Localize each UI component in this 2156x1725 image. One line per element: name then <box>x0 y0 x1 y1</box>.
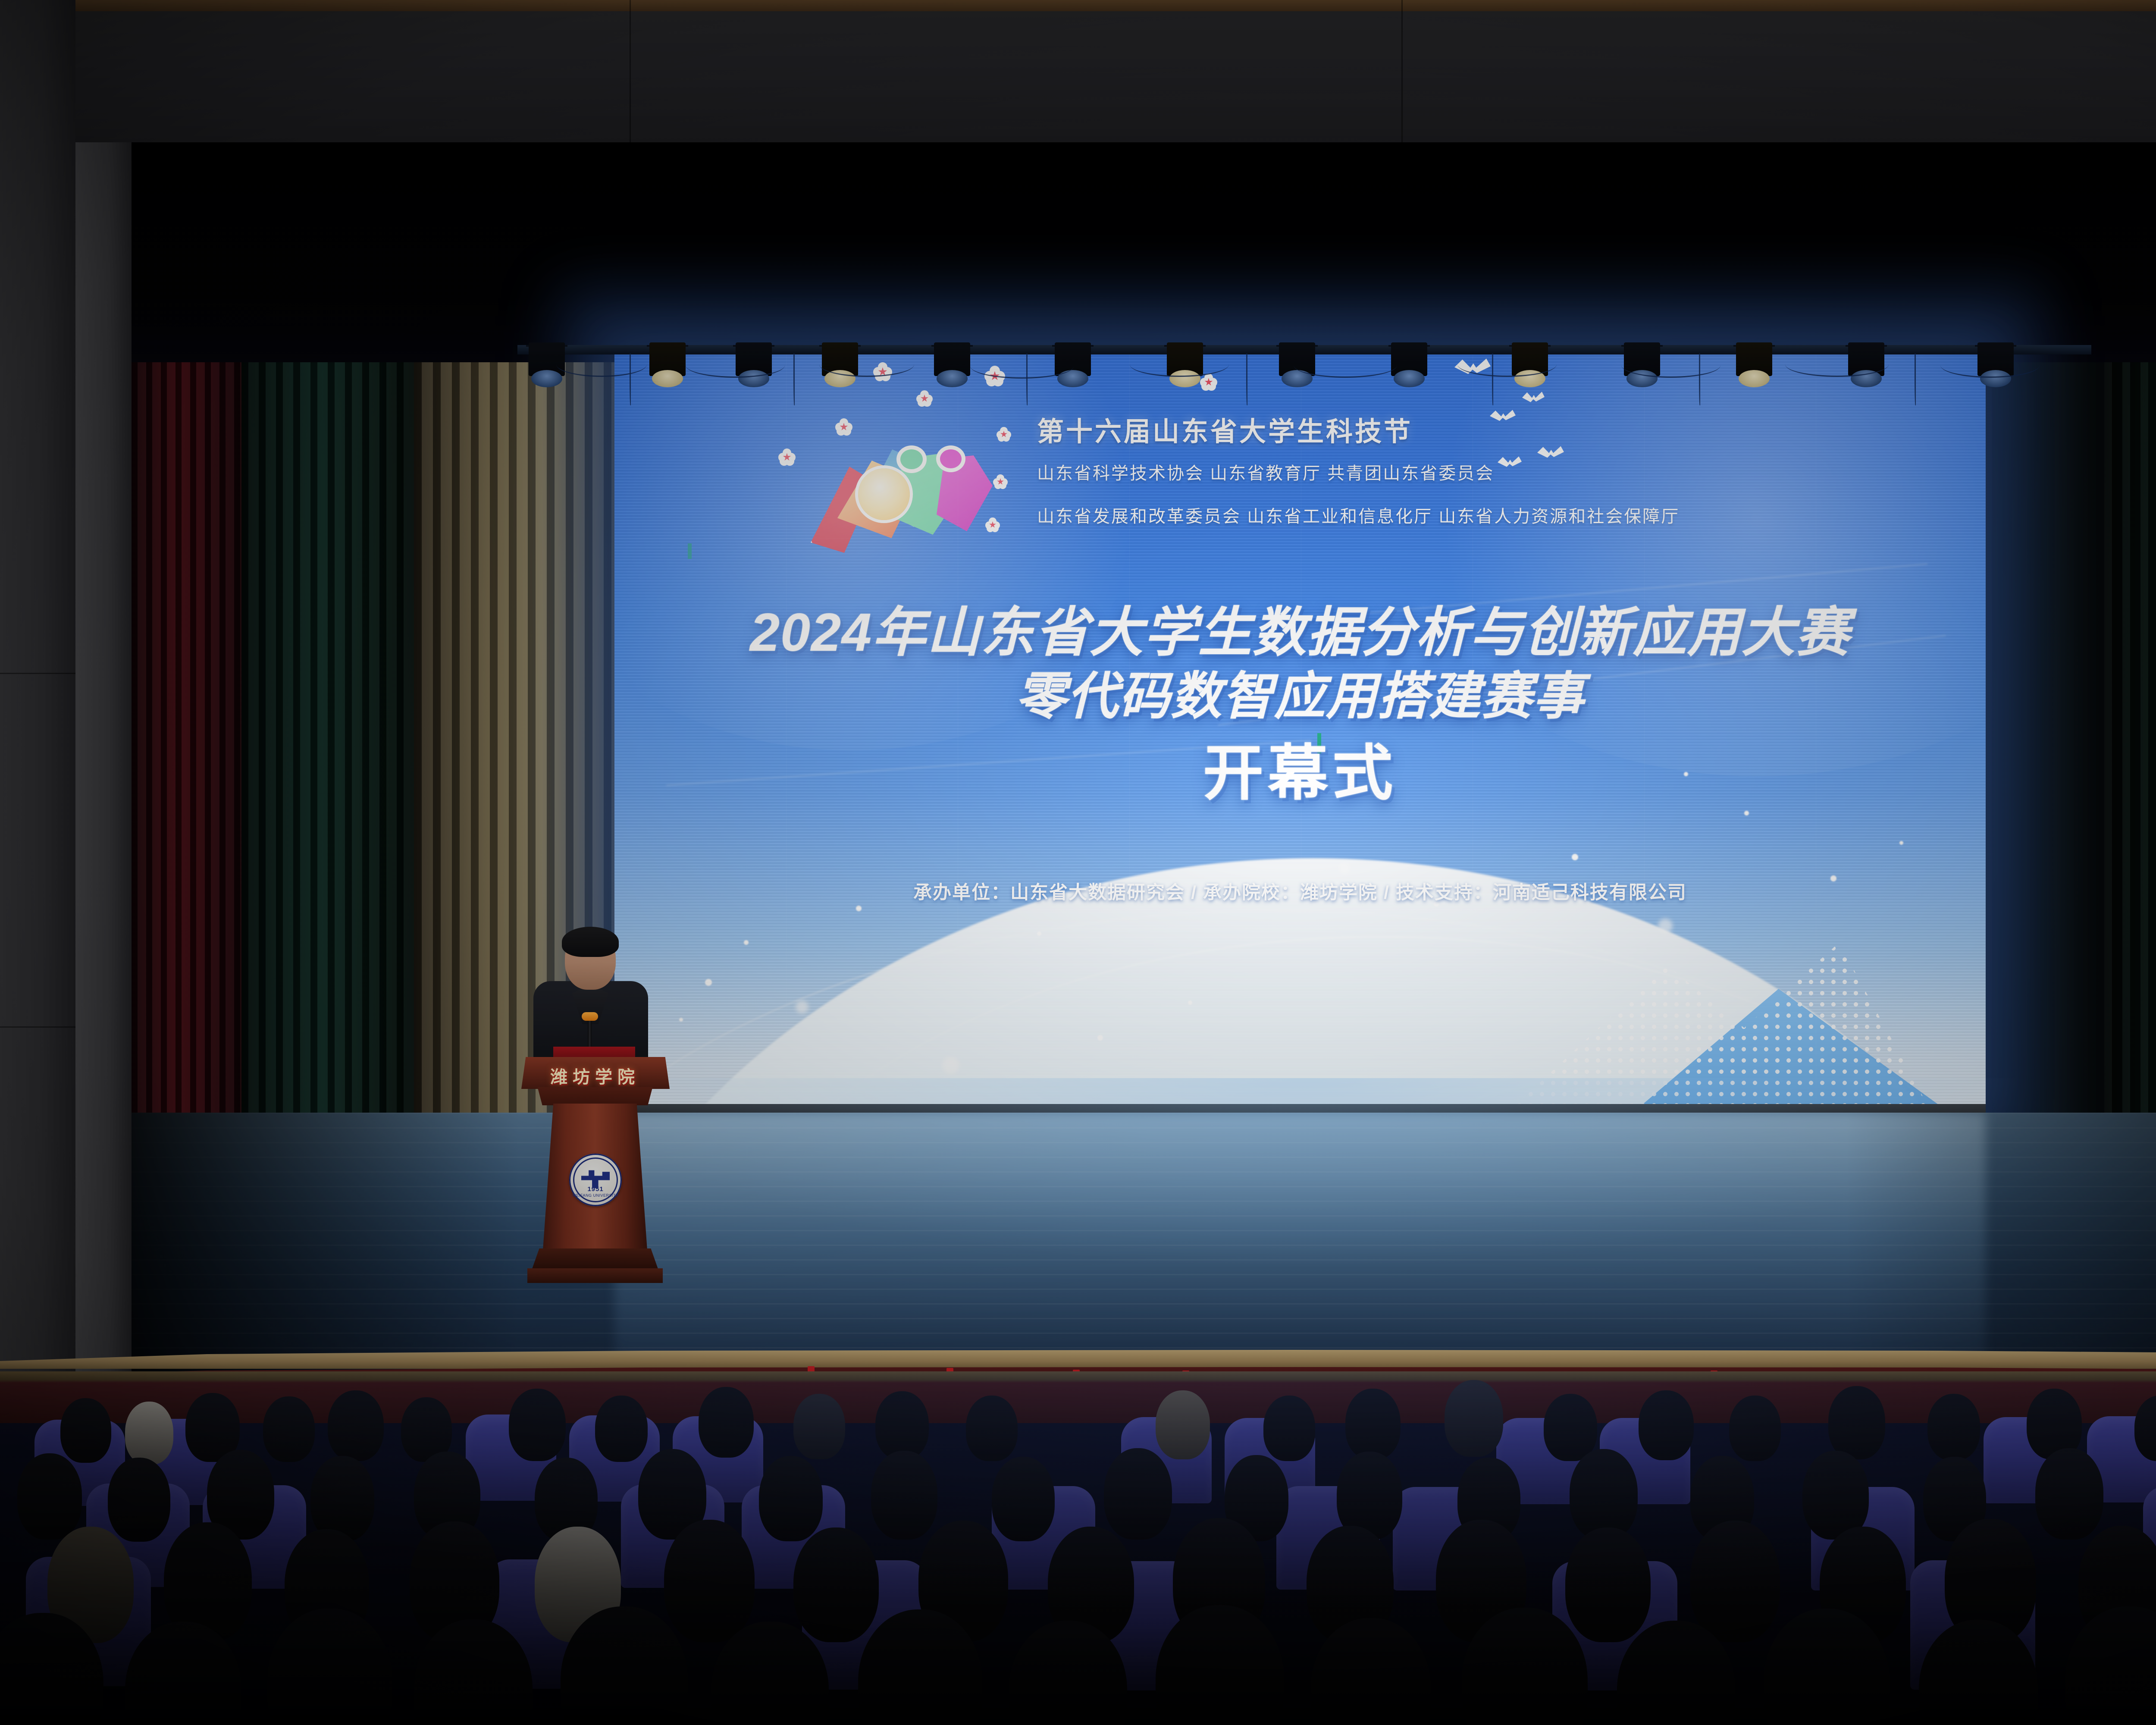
podium-with-speaker: 潍坊学院 1951 WEIFANG UNIVERSITY <box>524 929 666 1361</box>
audience-head <box>1156 1390 1210 1459</box>
auditorium-interior: 第十六届山东省大学生科技节 山东省科学技术协会 山东省教育厅 共青团山东省委员会… <box>0 0 2156 1725</box>
stage-light-fixture <box>931 342 973 391</box>
podium-base <box>532 1248 658 1270</box>
science-festival-logo <box>811 427 979 556</box>
speaker-hair <box>562 927 619 957</box>
audience-head <box>759 1456 823 1541</box>
audience-head <box>992 1457 1055 1541</box>
audience-head <box>2065 1606 2156 1725</box>
plum-blossom-icon <box>778 448 796 466</box>
audience-head <box>328 1390 384 1461</box>
podium-institution-name: 潍坊学院 <box>524 1063 666 1088</box>
left-proscenium-jamb <box>75 142 132 1380</box>
audience-head <box>1345 1389 1401 1459</box>
audience-head <box>509 1389 566 1461</box>
audience-head <box>1445 1380 1503 1457</box>
audience-head <box>2035 1448 2103 1540</box>
microphone-icon <box>582 1012 598 1021</box>
podium-plinth <box>527 1268 663 1283</box>
plum-blossom-icon <box>993 474 1008 489</box>
led-screen-content: 第十六届山东省大学生科技节 山东省科学技术协会 山东省教育厅 共青团山东省委员会… <box>614 345 1986 1117</box>
audience-head <box>1690 1521 1780 1642</box>
audience-head <box>966 1396 1018 1461</box>
crest-year: 1951 <box>569 1186 622 1193</box>
audience-seating-area <box>0 1371 2156 1725</box>
audience-head <box>1570 1449 1638 1540</box>
stage-light-fixture <box>647 342 688 391</box>
overhead-lighting-truss <box>517 328 2091 427</box>
audience-head <box>793 1394 845 1459</box>
accent-pixel-green-2 <box>688 543 692 559</box>
plum-blossom-icon <box>985 517 1000 532</box>
audience-head <box>125 1402 173 1465</box>
audience-head <box>1565 1527 1651 1642</box>
organizers-line-1: 山东省科学技术协会 山东省教育厅 共青团山东省委员会 <box>1037 459 1813 484</box>
audience-head <box>1729 1396 1781 1461</box>
upper-wall-panels <box>0 0 2156 142</box>
audience-head <box>664 1520 755 1642</box>
audience-head <box>595 1396 648 1462</box>
audience-head <box>60 1398 111 1463</box>
organizers-line-2: 山东省发展和改革委员会 山东省工业和信息化厅 山东省人力资源和社会保障厅 <box>1037 502 1813 527</box>
footer-credits: 承办单位：山东省大数据研究会 / 承办院校：潍坊学院 / 技术支持：河南适己科技… <box>614 878 1986 904</box>
audience-head <box>875 1391 929 1459</box>
audience-head <box>1802 1451 1869 1540</box>
wall-wood-trim <box>0 0 2156 11</box>
led-video-wall: 第十六届山东省大学生科技节 山东省科学技术协会 山东省教育厅 共青团山东省委员会… <box>614 345 1986 1117</box>
stage-floor <box>132 1113 2156 1380</box>
podium-neck <box>535 1087 655 1105</box>
audience-head <box>1639 1390 1694 1460</box>
audience-head <box>1544 1394 1597 1461</box>
audience-head <box>793 1527 879 1642</box>
stage-light-fixture <box>1733 342 1775 391</box>
university-crest: 1951 WEIFANG UNIVERSITY <box>569 1154 622 1206</box>
audience-head <box>108 1458 170 1542</box>
audience-head <box>17 1453 82 1540</box>
audience-head <box>267 1609 392 1725</box>
audience-head <box>1927 1394 1980 1460</box>
audience-head <box>1104 1448 1172 1540</box>
event-name-title: 开幕式 <box>614 724 1986 812</box>
plum-blossom-icon <box>997 427 1011 442</box>
crest-english-name: WEIFANG UNIVERSITY <box>569 1193 622 1198</box>
logo-head-green <box>900 449 923 469</box>
audience-head <box>263 1396 315 1462</box>
main-title-line-2: 零代码数智应用搭建赛事 <box>614 655 1986 728</box>
logo-sun-core <box>858 468 910 520</box>
audience-head <box>699 1387 754 1458</box>
audience-head <box>1263 1396 1315 1461</box>
audience-head <box>310 1456 374 1541</box>
audience-head <box>871 1451 937 1540</box>
logo-head-magenta <box>940 449 962 468</box>
audience-head <box>1828 1386 1885 1459</box>
